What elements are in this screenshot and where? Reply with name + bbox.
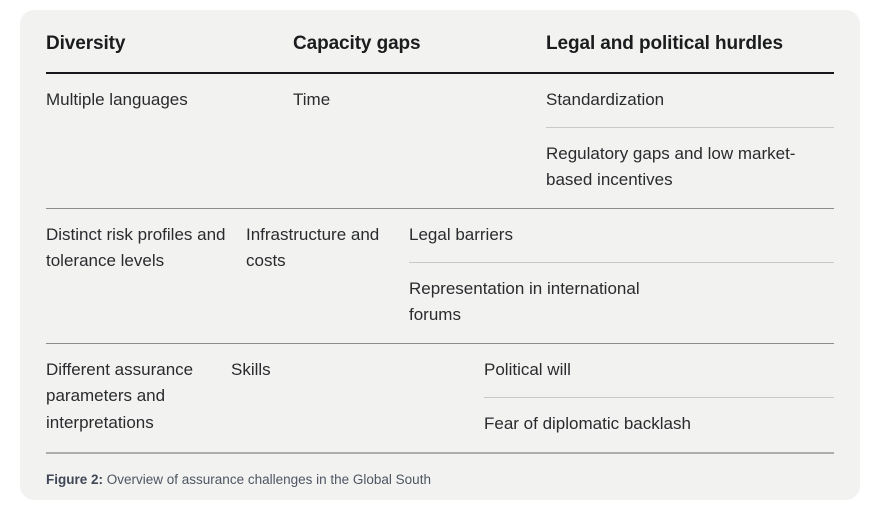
cell-diversity: Different assurance parameters and inter… bbox=[46, 344, 231, 452]
cell-hurdles-group: Political will Fear of diplomatic backla… bbox=[471, 344, 834, 452]
cell-hurdle-item: Political will bbox=[471, 344, 834, 397]
assurance-challenges-table: Diversity Capacity gaps Legal and politi… bbox=[46, 32, 834, 489]
cell-hurdle-item: Standardization bbox=[533, 74, 834, 127]
table-row: Distinct risk profiles and tolerance lev… bbox=[46, 209, 834, 343]
table-row: Different assurance parameters and inter… bbox=[46, 344, 834, 452]
cell-capacity: Skills bbox=[231, 344, 471, 452]
cell-hurdles-group: Legal barriers Representation in interna… bbox=[396, 209, 834, 343]
figure-caption-text: Overview of assurance challenges in the … bbox=[103, 472, 431, 487]
cell-capacity: Time bbox=[293, 74, 533, 208]
cell-hurdles-group: Standardization Regulatory gaps and low … bbox=[533, 74, 834, 208]
cell-hurdle-item: Fear of diplomatic backlash bbox=[471, 398, 834, 451]
column-header-legal-political-hurdles: Legal and political hurdles bbox=[533, 32, 834, 72]
cell-diversity: Distinct risk profiles and tolerance lev… bbox=[46, 209, 246, 343]
cell-hurdle-item: Regulatory gaps and low market-based inc… bbox=[533, 128, 833, 208]
table-row: Multiple languages Time Standardization … bbox=[46, 74, 834, 208]
cell-hurdle-item: Representation in international forums bbox=[396, 263, 696, 343]
figure-caption-label: Figure 2: bbox=[46, 472, 103, 487]
cell-capacity: Infrastructure and costs bbox=[246, 209, 396, 343]
column-header-diversity: Diversity bbox=[46, 32, 293, 72]
cell-hurdle-item: Legal barriers bbox=[396, 209, 834, 262]
figure-card: Diversity Capacity gaps Legal and politi… bbox=[20, 10, 860, 500]
column-header-capacity-gaps: Capacity gaps bbox=[293, 32, 533, 72]
table-header-row: Diversity Capacity gaps Legal and politi… bbox=[46, 32, 834, 72]
figure-caption: Figure 2: Overview of assurance challeng… bbox=[46, 454, 834, 490]
cell-diversity: Multiple languages bbox=[46, 74, 293, 208]
